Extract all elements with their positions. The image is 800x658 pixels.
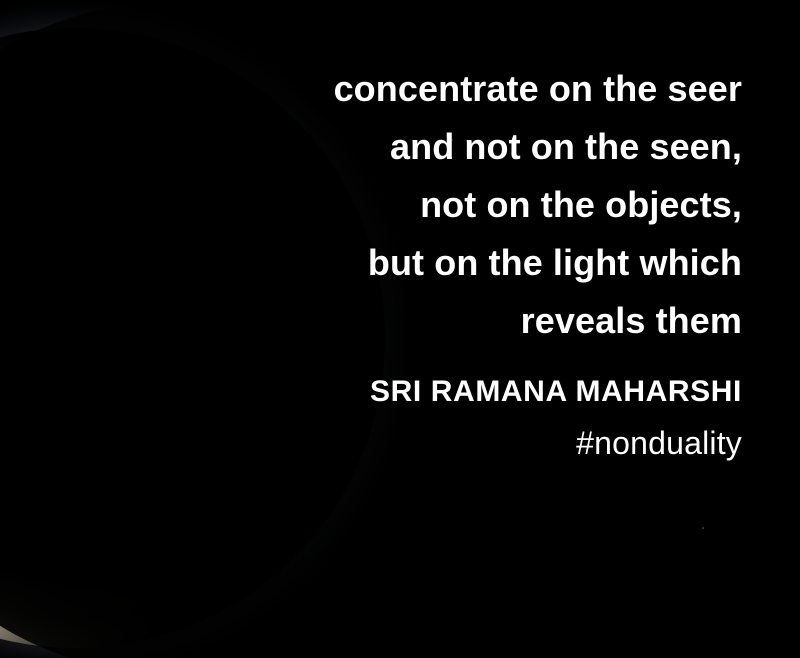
hashtag-label: #nonduality — [222, 424, 742, 462]
quote-line: reveals them — [222, 292, 742, 350]
quote-line: but on the light which — [222, 234, 742, 292]
star — [702, 527, 704, 529]
quote-line: and not on the seen, — [222, 118, 742, 176]
quote-author: SRI RAMANA MAHARSHI — [222, 374, 742, 410]
quote-line: concentrate on the seer — [222, 60, 742, 118]
quote-line: not on the objects, — [222, 176, 742, 234]
quote-text-block: concentrate on the seer and not on the s… — [222, 60, 742, 462]
quote-image-canvas: concentrate on the seer and not on the s… — [0, 0, 800, 658]
